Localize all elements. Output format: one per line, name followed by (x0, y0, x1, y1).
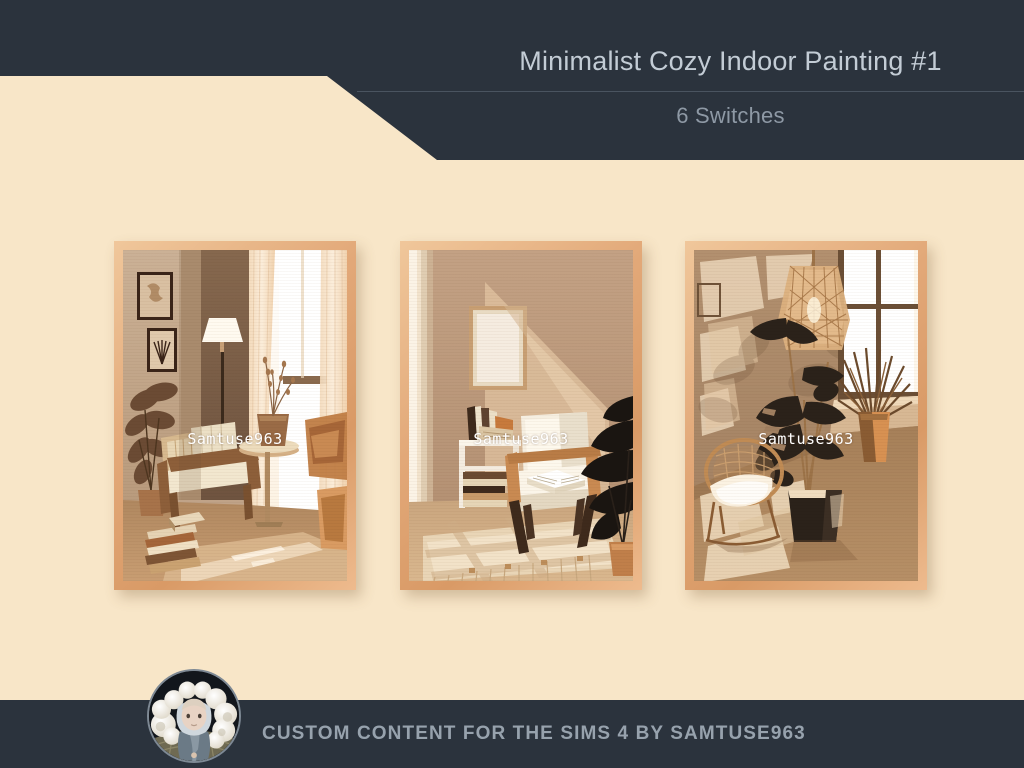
painting-canvas-2: Samtuse963 (409, 250, 633, 581)
page-subtitle: 6 Switches (437, 103, 1024, 129)
painting-frame-1[interactable]: Samtuse963 (114, 241, 356, 590)
painting-canvas-3: Samtuse963 (694, 250, 918, 581)
painting-artwork-3 (694, 250, 918, 581)
doll-in-cotton-flowers-icon (149, 671, 239, 761)
painting-artwork-1 (123, 250, 347, 581)
header-divider (357, 91, 1024, 92)
painting-artwork-2 (409, 250, 633, 581)
painting-canvas-1: Samtuse963 (123, 250, 347, 581)
header-bar (0, 0, 1024, 160)
painting-frame-2[interactable]: Samtuse963 (400, 241, 642, 590)
painting-frame-3[interactable]: Samtuse963 (685, 241, 927, 590)
page-title: Minimalist Cozy Indoor Painting #1 (437, 46, 1024, 77)
avatar[interactable] (147, 669, 241, 763)
footer-credit-text: CUSTOM CONTENT FOR THE SIMS 4 BY SAMTUSE… (262, 700, 806, 768)
